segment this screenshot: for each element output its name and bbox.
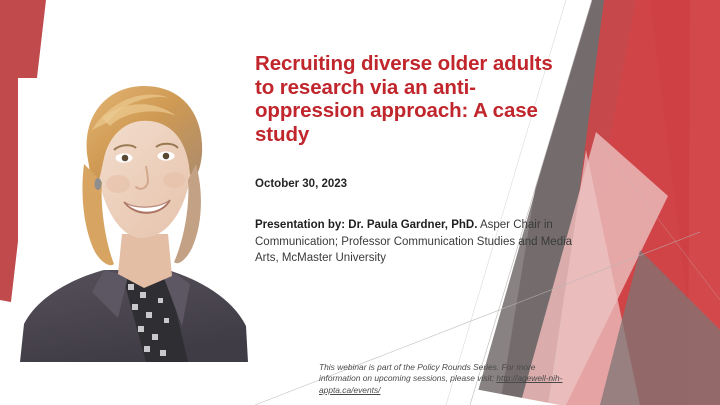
presentation-slide: Headshot of Dr. Paula Gardner, smiling w…	[0, 0, 720, 405]
presenter-byline: Presentation by: Dr. Paula Gardner, PhD.…	[255, 217, 585, 267]
title-line-2: to research via an anti-	[255, 76, 585, 100]
presenter-name: Presentation by: Dr. Paula Gardner, PhD.	[255, 219, 477, 231]
presenter-photo: Headshot of Dr. Paula Gardner, smiling w…	[18, 78, 248, 362]
webinar-footnote: This webinar is part of the Policy Round…	[319, 362, 569, 396]
presentation-date: October 30, 2023	[255, 177, 585, 192]
slide-title: Recruiting diverse older adults to resea…	[255, 52, 585, 146]
title-line-4: study	[255, 123, 585, 147]
title-line-1: Recruiting diverse older adults	[255, 52, 585, 76]
slide-text-column: Recruiting diverse older adults to resea…	[255, 52, 585, 267]
presenter-portrait-illustration: Headshot of Dr. Paula Gardner, smiling w…	[18, 78, 248, 362]
title-line-3: oppression approach: A case	[255, 99, 585, 123]
